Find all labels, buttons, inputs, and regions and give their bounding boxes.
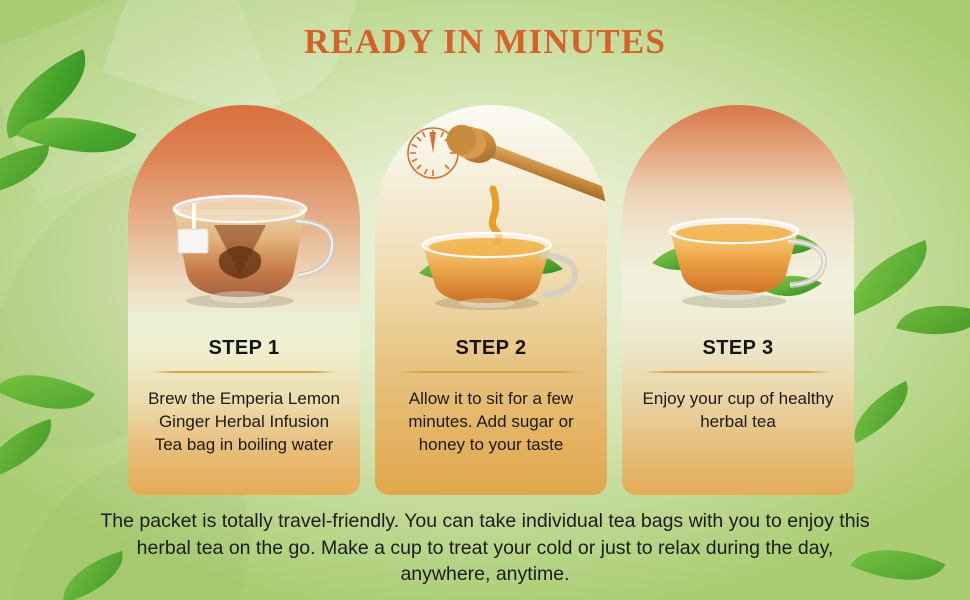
step-2-divider xyxy=(397,371,585,373)
footer-caption: The packet is totally travel-friendly. Y… xyxy=(95,508,875,588)
page-title: READY IN MINUTES xyxy=(0,22,970,62)
step-3-description: Enjoy your cup of healthy herbal tea xyxy=(622,387,854,433)
step-card-1: STEP 1 Brew the Emperia Lemon Ginger Her… xyxy=(128,105,360,495)
honey-dipper-icon xyxy=(441,119,607,252)
step-1-illustration xyxy=(128,105,360,337)
step-3-label: STEP 3 xyxy=(622,337,854,360)
step-3-divider xyxy=(644,371,832,373)
step-1-label: STEP 1 xyxy=(128,337,360,360)
step-2-label: STEP 2 xyxy=(375,337,607,360)
teacup-with-leaves-icon xyxy=(622,105,854,337)
decorative-leaf xyxy=(896,290,970,351)
teacup-with-honey-dipper-icon xyxy=(375,105,607,337)
teacup-with-teabag-icon xyxy=(128,105,360,337)
step-card-2: STEP 2 Allow it to sit for a few minutes… xyxy=(375,105,607,495)
step-1-description: Brew the Emperia Lemon Ginger Herbal Inf… xyxy=(128,387,360,456)
poster: READY IN MINUTES xyxy=(0,0,970,600)
step-2-illustration xyxy=(375,105,607,337)
step-1-divider xyxy=(150,371,338,373)
step-2-description: Allow it to sit for a few minutes. Add s… xyxy=(375,387,607,456)
step-3-illustration xyxy=(622,105,854,337)
step-card-3: STEP 3 Enjoy your cup of healthy herbal … xyxy=(622,105,854,495)
